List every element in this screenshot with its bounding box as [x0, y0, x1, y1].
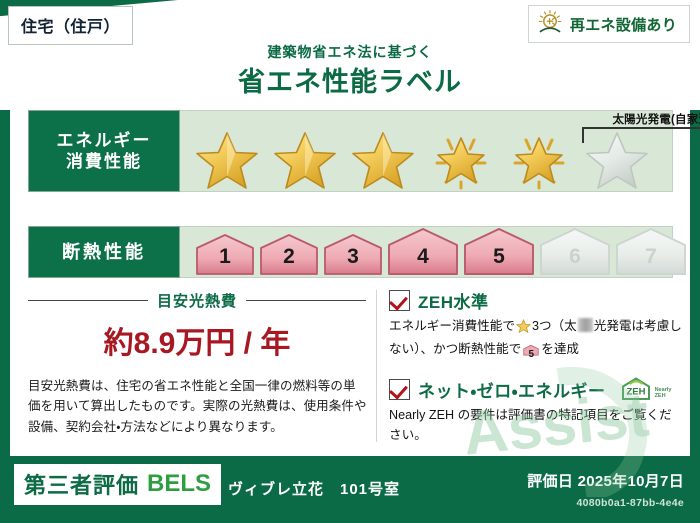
zeh-logo-sub: Nearly ZEH [655, 388, 672, 403]
utility-cost-note: 目安光熱費は、住宅の省エネ性能と全国一律の燃料等の単価を用いて算出したものです。… [28, 376, 368, 437]
zeh-desc-part-b: 3つ（太 [532, 319, 577, 333]
insulation-performance-row: 断熱性能 [28, 226, 673, 278]
bels-energy-label: 住宅（住戸） 再エネ設備あり 建築物省エネ法に基づく 省エネ性能 [0, 0, 700, 523]
utility-cost-value: 約8.9万円 / 年 [22, 318, 372, 362]
heading-rule-left [28, 300, 148, 301]
utility-cost-section: 目安光熱費 約8.9万円 / 年 目安光熱費は、住宅の省エネ性能と全国一律の燃料… [22, 288, 372, 448]
insulation-house-3: 3 [322, 232, 384, 276]
energy-label-line2: 消費性能 [66, 151, 142, 172]
energy-star-2 [268, 128, 342, 190]
utility-cost-heading-row: 目安光熱費 [28, 290, 366, 311]
insulation-house-2: 2 [258, 232, 320, 276]
zeh-standard-item: ZEH水準 [389, 288, 682, 313]
zeh-standard-title: ZEH水準 [418, 288, 489, 313]
insulation-level-number: 2 [258, 245, 320, 269]
net-zero-energy-title: ネット・ゼロ・エネルギー [418, 377, 606, 402]
insulation-level-number: 4 [386, 245, 460, 269]
energy-star-3 [346, 128, 420, 190]
renewable-energy-badge-label: 再エネ設備あり [570, 14, 677, 35]
heading-rule-right [246, 300, 366, 301]
column-divider [376, 290, 377, 442]
energy-star-4-solar [424, 128, 498, 190]
insulation-house-1: 1 [194, 232, 256, 276]
label-footer: 第三者評価 BELS ヴィブレ立花 101号室 評価日 2025年10月7日 4… [0, 457, 700, 523]
insulation-level-number: 3 [322, 245, 384, 269]
zeh-logo-icon: ZEH Nearly ZEH [619, 376, 672, 402]
label-title: 省エネ性能ラベル [0, 60, 700, 99]
zeh-section: ZEH水準 エネルギー消費性能で3つ（太光発電は考慮しない）、かつ断熱性能で5を… [389, 288, 682, 448]
insulation-rating-area: 1 2 3 4 [180, 226, 673, 278]
solar-bracket-label: 太陽光発電(自家消費)分 [560, 111, 700, 127]
net-zero-energy-item: ネット・ゼロ・エネルギー ZEH Nearly ZEH Nearly ZE [389, 376, 682, 445]
insulation-level-number: 7 [614, 245, 688, 269]
redacted-character [578, 318, 593, 332]
bels-en-label: BELS [147, 470, 211, 498]
sun-icon [537, 9, 563, 40]
insulation-level-scale: 1 2 3 4 [194, 228, 666, 276]
insulation-badge-value: 5 [523, 347, 539, 363]
energy-label-line1: エネルギー [57, 130, 152, 151]
insulation-level-number: 6 [538, 245, 612, 269]
insulation-badge-icon: 5 [523, 343, 539, 363]
insulation-house-5: 5 [462, 226, 536, 276]
svg-text:ZEH: ZEH [626, 387, 645, 398]
checkbox-checked-icon [389, 290, 410, 311]
energy-star-1 [190, 128, 264, 190]
insulation-house-4: 4 [386, 226, 460, 276]
insulation-label-line1: 断熱性能 [62, 241, 146, 264]
energy-performance-rating-area: 太陽光発電(自家消費)分 [180, 110, 673, 192]
housing-type-tab: 住宅（住戸） [8, 6, 133, 45]
energy-star-5-solar [502, 128, 576, 190]
label-subtitle: 建築物省エネ法に基づく [0, 42, 700, 62]
energy-performance-row: エネルギー 消費性能 太陽光発電(自家消費)分 [28, 110, 673, 192]
bels-certification-mark: 第三者評価 BELS [14, 464, 221, 505]
evaluation-id: 4080b0a1-87bb-4e4e [576, 497, 684, 509]
net-zero-energy-description: Nearly ZEH の要件は評価書の特記項目をご覧ください。 [389, 405, 682, 445]
renewable-energy-badge: 再エネ設備あり [528, 5, 690, 43]
zeh-desc-part-a: エネルギー消費性能で [389, 319, 515, 333]
insulation-performance-label: 断熱性能 [28, 226, 180, 278]
insulation-level-number: 5 [462, 245, 536, 269]
insulation-house-7: 7 [614, 226, 688, 276]
zeh-standard-description: エネルギー消費性能で3つ（太光発電は考慮しない）、かつ断熱性能で5を達成 [389, 316, 682, 363]
insulation-house-6: 6 [538, 226, 612, 276]
building-name: ヴィブレ立花 101号室 [228, 478, 400, 499]
insulation-level-number: 1 [194, 245, 256, 269]
evaluation-date: 評価日 2025年10月7日 [527, 470, 684, 491]
star-icon [516, 319, 531, 339]
bels-jp-label: 第三者評価 [24, 468, 139, 500]
utility-cost-heading: 目安光熱費 [157, 290, 237, 311]
lower-content: 目安光熱費 約8.9万円 / 年 目安光熱費は、住宅の省エネ性能と全国一律の燃料… [22, 288, 682, 448]
energy-performance-label: エネルギー 消費性能 [28, 110, 180, 192]
zeh-desc-part-d: を達成 [541, 342, 579, 356]
solar-bracket [582, 127, 700, 143]
checkbox-checked-icon [389, 379, 410, 400]
